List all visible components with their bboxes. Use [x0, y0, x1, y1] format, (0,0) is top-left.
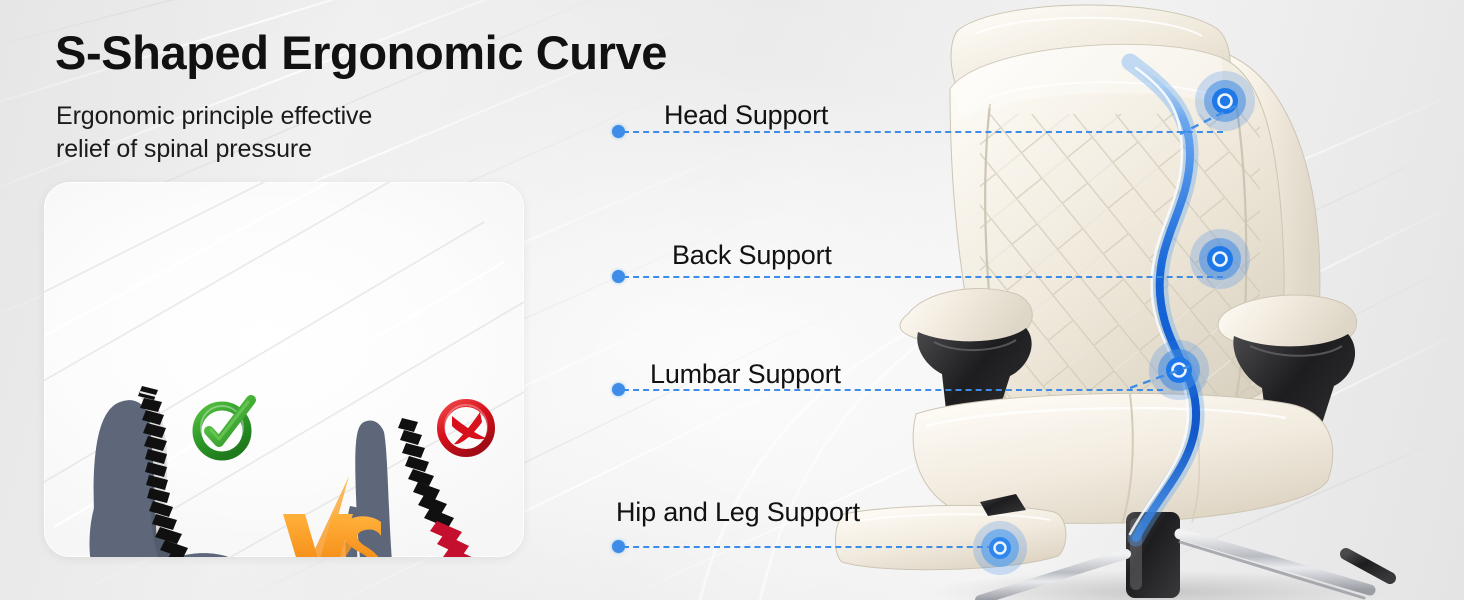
versus-mark	[277, 470, 395, 557]
office-chair-photo	[830, 0, 1464, 600]
callout-label: Head Support	[664, 100, 828, 131]
callout-dash-line	[623, 546, 993, 548]
callout-dash-line	[623, 276, 1223, 278]
callout-label: Back Support	[672, 240, 832, 271]
page-title: S-Shaped Ergonomic Curve	[55, 28, 667, 77]
callout-leader	[1180, 100, 1236, 140]
page-subtitle: Ergonomic principle effective relief of …	[56, 100, 372, 166]
comparison-card: OUR VS Others	[44, 182, 524, 557]
callout-label: Hip and Leg Support	[616, 497, 860, 528]
check-circle-icon	[190, 395, 258, 463]
callout-dash-line	[623, 131, 1223, 133]
infographic-canvas: Head Support Back Support	[0, 0, 1464, 600]
callout-node-glow	[1189, 228, 1251, 290]
cross-circle-icon	[434, 396, 498, 460]
callout-leader	[1130, 360, 1190, 394]
callout-label: Lumbar Support	[650, 359, 841, 390]
callout-node-glow	[972, 520, 1028, 576]
